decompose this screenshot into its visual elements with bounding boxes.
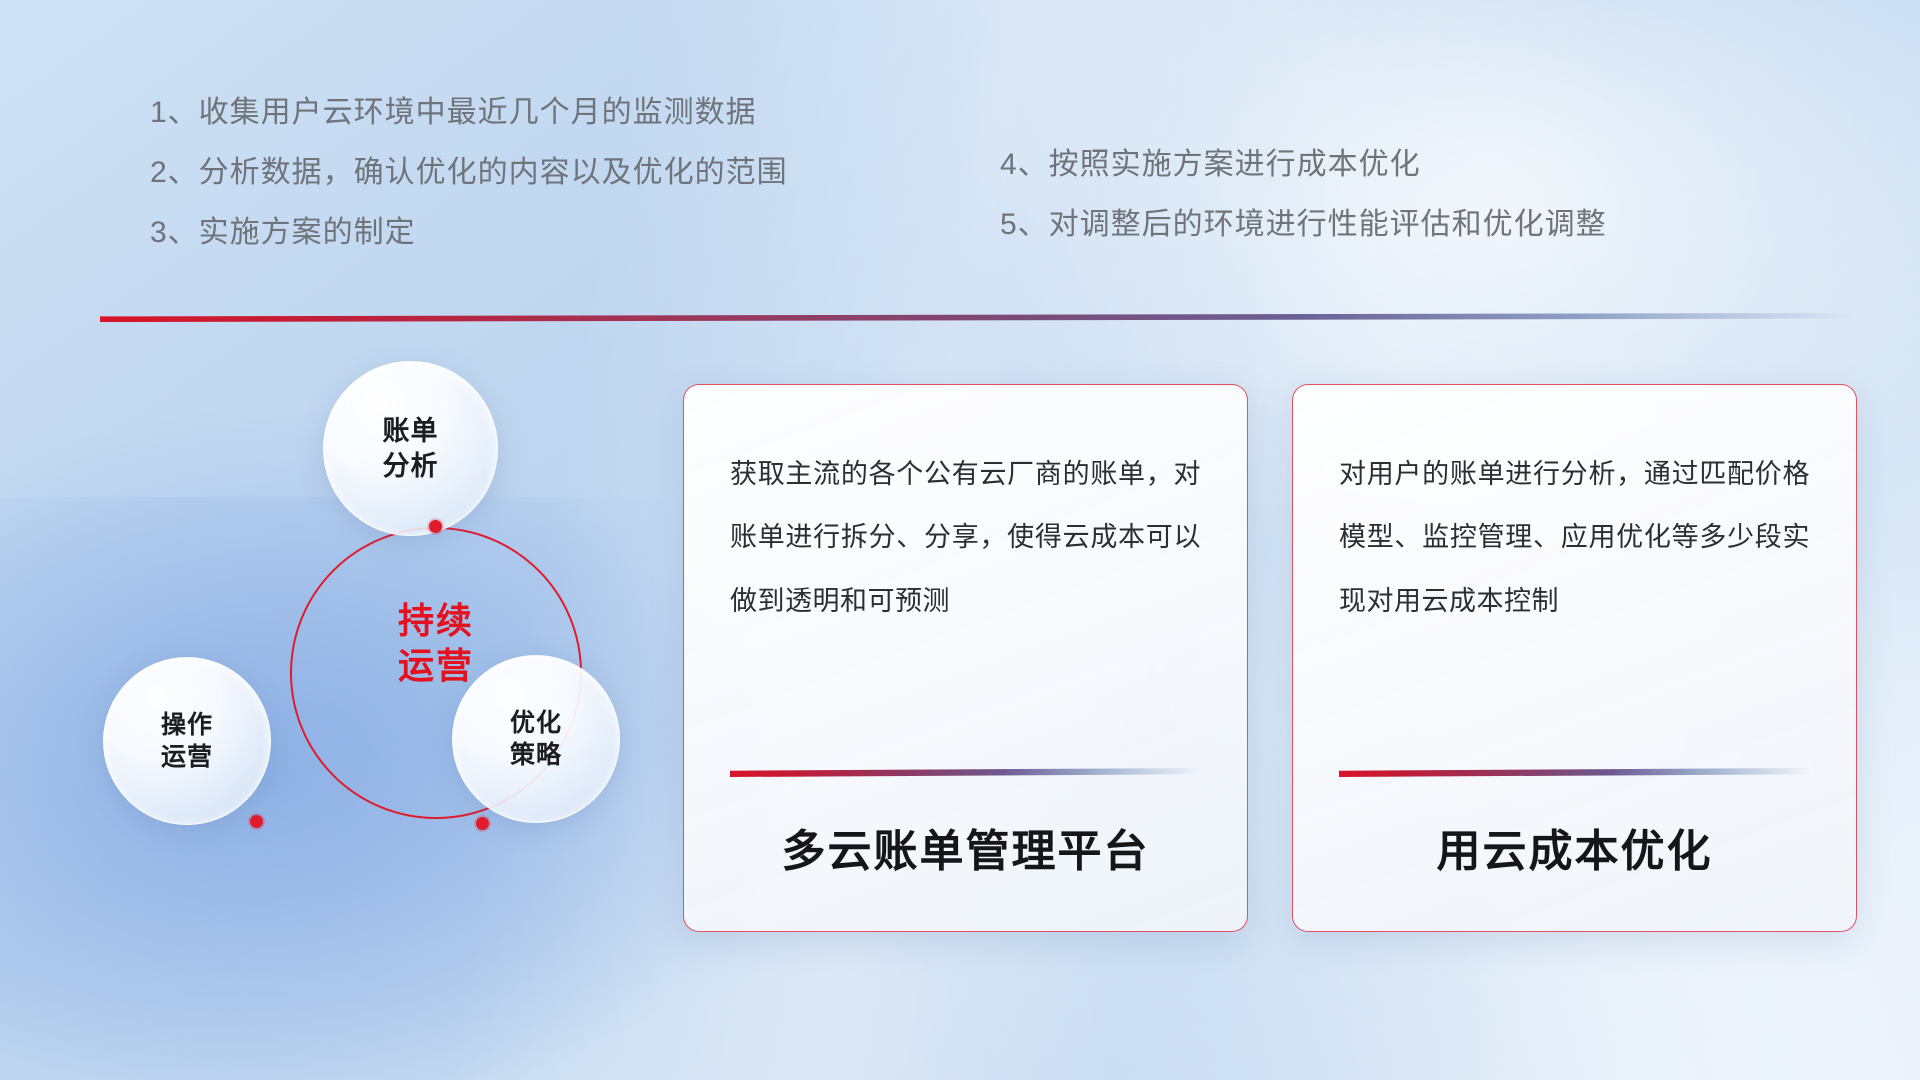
connector-dot-left <box>250 815 263 828</box>
node-label-line-1: 账单 <box>383 414 439 449</box>
slide-canvas: 1、收集用户云环境中最近几个月的监测数据 2、分析数据，确认优化的内容以及优化的… <box>0 0 1920 1080</box>
card-divider-rule <box>730 768 1201 777</box>
connector-dot-right <box>476 817 489 830</box>
card-divider-rule <box>1339 768 1810 777</box>
card-body-text: 对用户的账单进行分析，通过匹配价格模型、监控管理、应用优化等多少段实现对用云成本… <box>1339 443 1810 633</box>
node-label: 账单 分析 <box>383 414 439 483</box>
step-item: 3、实施方案的制定 <box>150 218 788 248</box>
step-item: 1、收集用户云环境中最近几个月的监测数据 <box>150 98 788 128</box>
feature-card-cloud-cost-optimization[interactable]: 对用户的账单进行分析，通过匹配价格模型、监控管理、应用优化等多少段实现对用云成本… <box>1292 384 1857 932</box>
center-label-line-1: 持续 <box>290 598 582 643</box>
step-item: 4、按照实施方案进行成本优化 <box>1000 150 1607 180</box>
node-label-line-2: 运营 <box>161 741 213 773</box>
diagram-node-optimization-strategy[interactable]: 优化 策略 <box>452 655 620 823</box>
section-divider <box>100 313 1860 322</box>
steps-column-left: 1、收集用户云环境中最近几个月的监测数据 2、分析数据，确认优化的内容以及优化的… <box>150 98 788 278</box>
card-title: 用云成本优化 <box>1339 777 1810 931</box>
continuous-operation-diagram: 持续 运营 账单 分析 操作 运营 优化 策略 <box>95 355 625 940</box>
node-label-line-2: 分析 <box>383 449 439 484</box>
feature-card-multi-cloud-billing-platform[interactable]: 获取主流的各个公有云厂商的账单，对账单进行拆分、分享，使得云成本可以做到透明和可… <box>683 384 1248 932</box>
node-label-line-1: 优化 <box>510 707 562 739</box>
diagram-node-operations[interactable]: 操作 运营 <box>103 657 271 825</box>
connector-dot-top <box>429 520 442 533</box>
node-label: 优化 策略 <box>510 707 562 771</box>
card-title: 多云账单管理平台 <box>730 777 1201 931</box>
card-body-text: 获取主流的各个公有云厂商的账单，对账单进行拆分、分享，使得云成本可以做到透明和可… <box>730 443 1201 633</box>
step-item: 5、对调整后的环境进行性能评估和优化调整 <box>1000 210 1607 240</box>
divider-gradient-bar <box>100 313 1860 322</box>
steps-column-right: 4、按照实施方案进行成本优化 5、对调整后的环境进行性能评估和优化调整 <box>1000 150 1607 270</box>
node-label: 操作 运营 <box>161 709 213 773</box>
step-item: 2、分析数据，确认优化的内容以及优化的范围 <box>150 158 788 188</box>
node-label-line-1: 操作 <box>161 709 213 741</box>
node-label-line-2: 策略 <box>510 739 562 771</box>
diagram-node-billing-analysis[interactable]: 账单 分析 <box>323 361 498 536</box>
